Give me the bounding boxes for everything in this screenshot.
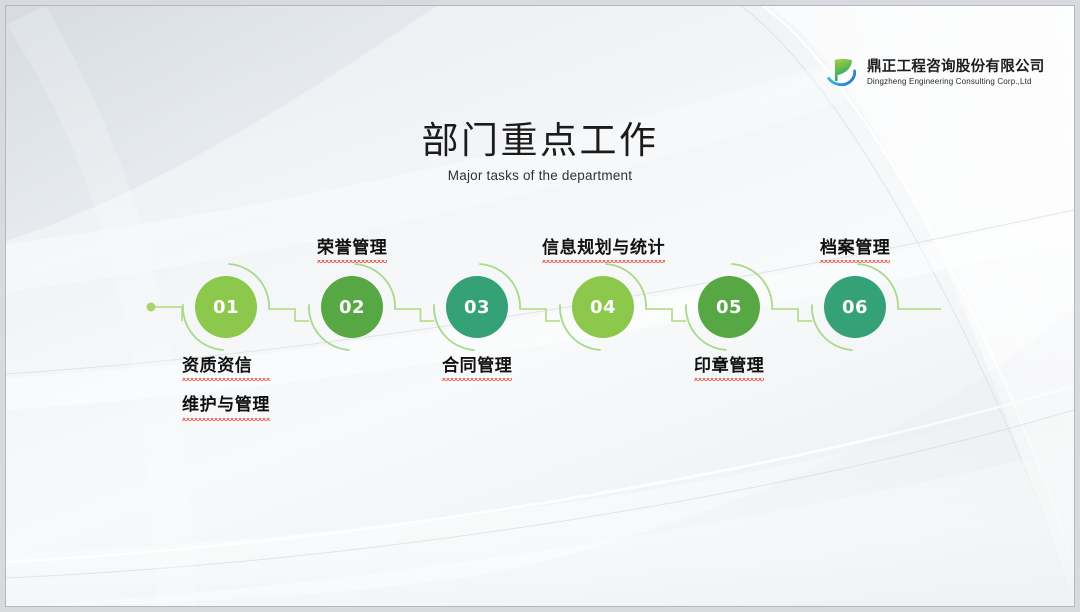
step-label-line: 合同管理 xyxy=(442,356,512,381)
company-name-cn: 鼎正工程咨询股份有限公司 xyxy=(867,59,1045,76)
title-en: Major tasks of the department xyxy=(6,168,1074,183)
background-decoration xyxy=(6,6,1074,606)
title-cn: 部门重点工作 xyxy=(6,119,1074,163)
timeline-node-06[interactable]: 06 xyxy=(824,276,886,338)
step-label-02[interactable]: 荣誉管理 xyxy=(317,238,387,263)
timeline-node-number: 02 xyxy=(339,297,365,318)
timeline-node-02[interactable]: 02 xyxy=(321,276,383,338)
step-label-line: 荣誉管理 xyxy=(317,238,387,263)
timeline-node-number: 05 xyxy=(716,297,742,318)
step-label-03[interactable]: 合同管理 xyxy=(442,356,512,381)
timeline-node-01[interactable]: 01 xyxy=(195,276,257,338)
timeline-node-05[interactable]: 05 xyxy=(698,276,760,338)
logo-text-block: 鼎正工程咨询股份有限公司 Dingzheng Engineering Consu… xyxy=(867,59,1045,87)
step-label-line: 资质资信 xyxy=(182,356,270,381)
step-label-line: 印章管理 xyxy=(694,356,764,381)
step-label-05[interactable]: 印章管理 xyxy=(694,356,764,381)
page-title: 部门重点工作 Major tasks of the department xyxy=(6,119,1074,183)
presentation-slide: 鼎正工程咨询股份有限公司 Dingzheng Engineering Consu… xyxy=(6,6,1074,606)
timeline-node-03[interactable]: 03 xyxy=(446,276,508,338)
timeline-node-number: 04 xyxy=(590,297,616,318)
step-label-01[interactable]: 资质资信维护与管理 xyxy=(182,356,270,421)
company-name-en: Dingzheng Engineering Consulting Corp.,L… xyxy=(867,77,1045,87)
timeline-node-04[interactable]: 04 xyxy=(572,276,634,338)
dingzheng-d-leaf-logo-icon xyxy=(826,56,860,90)
timeline-node-number: 03 xyxy=(464,297,490,318)
step-label-line: 信息规划与统计 xyxy=(542,238,665,263)
step-label-line: 档案管理 xyxy=(820,238,890,263)
step-label-line: 维护与管理 xyxy=(182,395,270,420)
step-label-04[interactable]: 信息规划与统计 xyxy=(542,238,665,263)
company-logo: 鼎正工程咨询股份有限公司 Dingzheng Engineering Consu… xyxy=(826,56,1045,90)
timeline-node-number: 06 xyxy=(842,297,868,318)
timeline-node-number: 01 xyxy=(213,297,239,318)
step-label-06[interactable]: 档案管理 xyxy=(820,238,890,263)
